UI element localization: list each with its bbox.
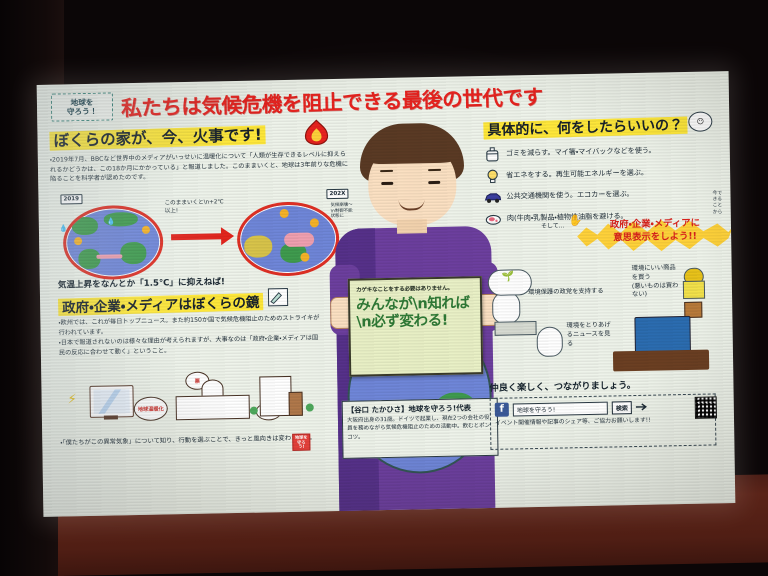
desk-icon — [613, 350, 709, 372]
left-footnote: ・「僕たちがこの異常気象」について知り、行動を選ぶことで、きっと風向きは変わりま… — [60, 433, 328, 449]
memo-icon — [268, 288, 288, 306]
speaker-brow-right — [428, 169, 441, 171]
left-column: ぼくらの家が、今、火事です! ・2019年7月、BBCなど世界中のメディアがいっ… — [49, 121, 350, 185]
speaker-neck — [397, 219, 427, 234]
globe-2019-icon — [63, 204, 164, 280]
list-item: 公共交通機関を使う。エコカーを選ぶ。 — [484, 185, 722, 205]
lightning-bolt-icon: ⚡ — [68, 392, 77, 407]
list-item: ゴミを減らす。マイ箸・マイバックなどを使う。 — [484, 142, 722, 162]
logo-stamp-line2: 守ろう！ — [67, 107, 98, 117]
podium-icon — [494, 321, 536, 336]
facebook-cta-box[interactable]: f 地球を守ろう! 検索 イベント開催情報や記事のシェア等、ご協力お願いします!… — [490, 393, 717, 450]
shopper-icon — [682, 268, 705, 302]
speaker-eye-right — [428, 181, 440, 184]
globe-left-year: 2019 — [60, 194, 82, 204]
scene-caption-2: 環境にいい商品を買う (悪いものは買わない) — [632, 264, 683, 300]
left-heading-2-label: 政府・企業・メディアはぼくらの鏡 — [58, 290, 264, 318]
meat-icon — [485, 211, 502, 226]
logo-stamp-line1: 地球を — [70, 97, 93, 107]
profile-box: 【谷口 たかひさ】地球を守ろう!代表 大阪府出身の31歳。ドイツで起業し、現在2… — [342, 398, 499, 459]
speaker-illustration: カゲキなことをする必要はありません。 みんなが\n知れば\n必ず変わる! 【谷口… — [323, 122, 505, 501]
right-heading: 具体的に、何をしたらいいの？ — [483, 112, 721, 141]
search-button[interactable]: 検索 — [612, 401, 632, 414]
arrow-line — [171, 233, 223, 240]
protest-sign: カゲキなことをする必要はありません。 みんなが\n知れば\n必ず変わる! — [348, 276, 484, 377]
facebook-search-field[interactable]: 地球を守ろう! — [513, 401, 608, 416]
company-building-icon — [259, 376, 292, 417]
scene-caption-3: 環境をとりあげるニュースを見る — [566, 321, 612, 348]
arrow-head-icon — [221, 227, 234, 245]
globe-comparison: 2019 💧 💧 このままいくと\n+2℃以上! 202X — [58, 189, 351, 275]
call-to-action-banner: 政府・企業・メディアに 意思表示をしよう!! — [567, 213, 736, 259]
sign-main-text: みんなが\n知れば\n必ず変わる! — [356, 295, 475, 332]
tv-stand — [104, 415, 118, 419]
sprout-icon: 🌱 — [502, 271, 515, 282]
list-item-label: 公共交通機関を使う。エコカーを選ぶ。 — [506, 187, 633, 201]
left-bullets: ・欧州では、これが毎日トップニュース。また約150か国で気候危機阻止のためのスト… — [58, 313, 321, 358]
facebook-note: イベント開催情報や記事のシェア等、ご協力お願いします!! — [495, 416, 711, 429]
left-heading-2: 政府・企業・メディアはぼくらの鏡 — [58, 290, 264, 318]
scene-caption-1: 環境保護の政党を支持する — [528, 288, 608, 298]
person-head-icon — [492, 291, 520, 324]
side-note: 今できることから — [712, 191, 726, 216]
company-door — [289, 392, 303, 416]
projected-slide: 地球を 守ろう！ 私たちは気候危機を阻止できる最後の世代です ぼくらの家が、今、… — [37, 71, 736, 517]
sign-top-text: カゲキなことをする必要はありません。 — [356, 283, 474, 293]
viewer-head-icon — [537, 326, 563, 357]
media-bubble: 地球温暖化 — [134, 396, 168, 421]
right-column: 具体的に、何をしたらいいの？ 😶 ゴミを減らす。マイ箸・マイバックなどを使う。 — [483, 113, 723, 233]
left-paragraph: ・2019年7月、BBCなど世界中のメディアがいっせいに温暖化について「人類が生… — [50, 150, 350, 185]
call-to-action-text: 政府・企業・メディアに 意思表示をしよう!! — [567, 217, 735, 246]
tv-icon — [89, 385, 133, 418]
list-item-label: ゴミを減らす。マイ箸・マイバックなどを使う。 — [506, 144, 656, 158]
soshite-label: そして... — [541, 220, 565, 229]
list-item-label: 省エネをする。再生可能エネルギーを選ぶ。 — [506, 165, 648, 179]
trash-bin-icon — [484, 147, 501, 162]
left-bullet-2: ・日本で報道されないのは様々な理由が考えられますが、大事なのは「政府・企業・メデ… — [59, 333, 321, 358]
car-icon — [484, 190, 501, 205]
arrow-caption: このままいくと\n+2℃以上! — [165, 199, 229, 215]
speaker-hair-front — [363, 132, 459, 164]
qr-code-icon[interactable] — [695, 396, 717, 418]
list-item: 省エネをする。再生可能エネルギーを選ぶ。 — [484, 164, 722, 184]
diet-building-icon — [175, 379, 248, 418]
left-illustration: ⚡ 地球温暖化 票 お金 — [59, 371, 324, 434]
right-heading-label: 具体的に、何をしたらいいの？ — [483, 113, 687, 141]
profile-text: 大阪府出身の31歳。ドイツで起業し、現在2つの会社の役員を務めながら気候危機阻止… — [347, 414, 493, 442]
speaker-eye-left — [381, 182, 393, 185]
tree-icon — [306, 403, 314, 411]
closing-message: 仲良く楽しく、つながりましょう。 — [489, 375, 723, 394]
left-heading-1-label: ぼくらの家が、今、火事です! — [49, 122, 266, 153]
facebook-icon[interactable]: f — [495, 403, 509, 417]
red-stamp: 地球を守ろう! — [292, 434, 310, 451]
logo-stamp: 地球を 守ろう！ — [51, 92, 113, 121]
action-scenes: 🌱 環境保護の政党を支持する 環境にいい商品を買う (悪いものは買わない) 環境… — [486, 261, 726, 378]
speaker-brow-left — [380, 170, 393, 172]
arrow-right-icon — [636, 402, 650, 412]
light-bulb-icon — [484, 168, 501, 183]
